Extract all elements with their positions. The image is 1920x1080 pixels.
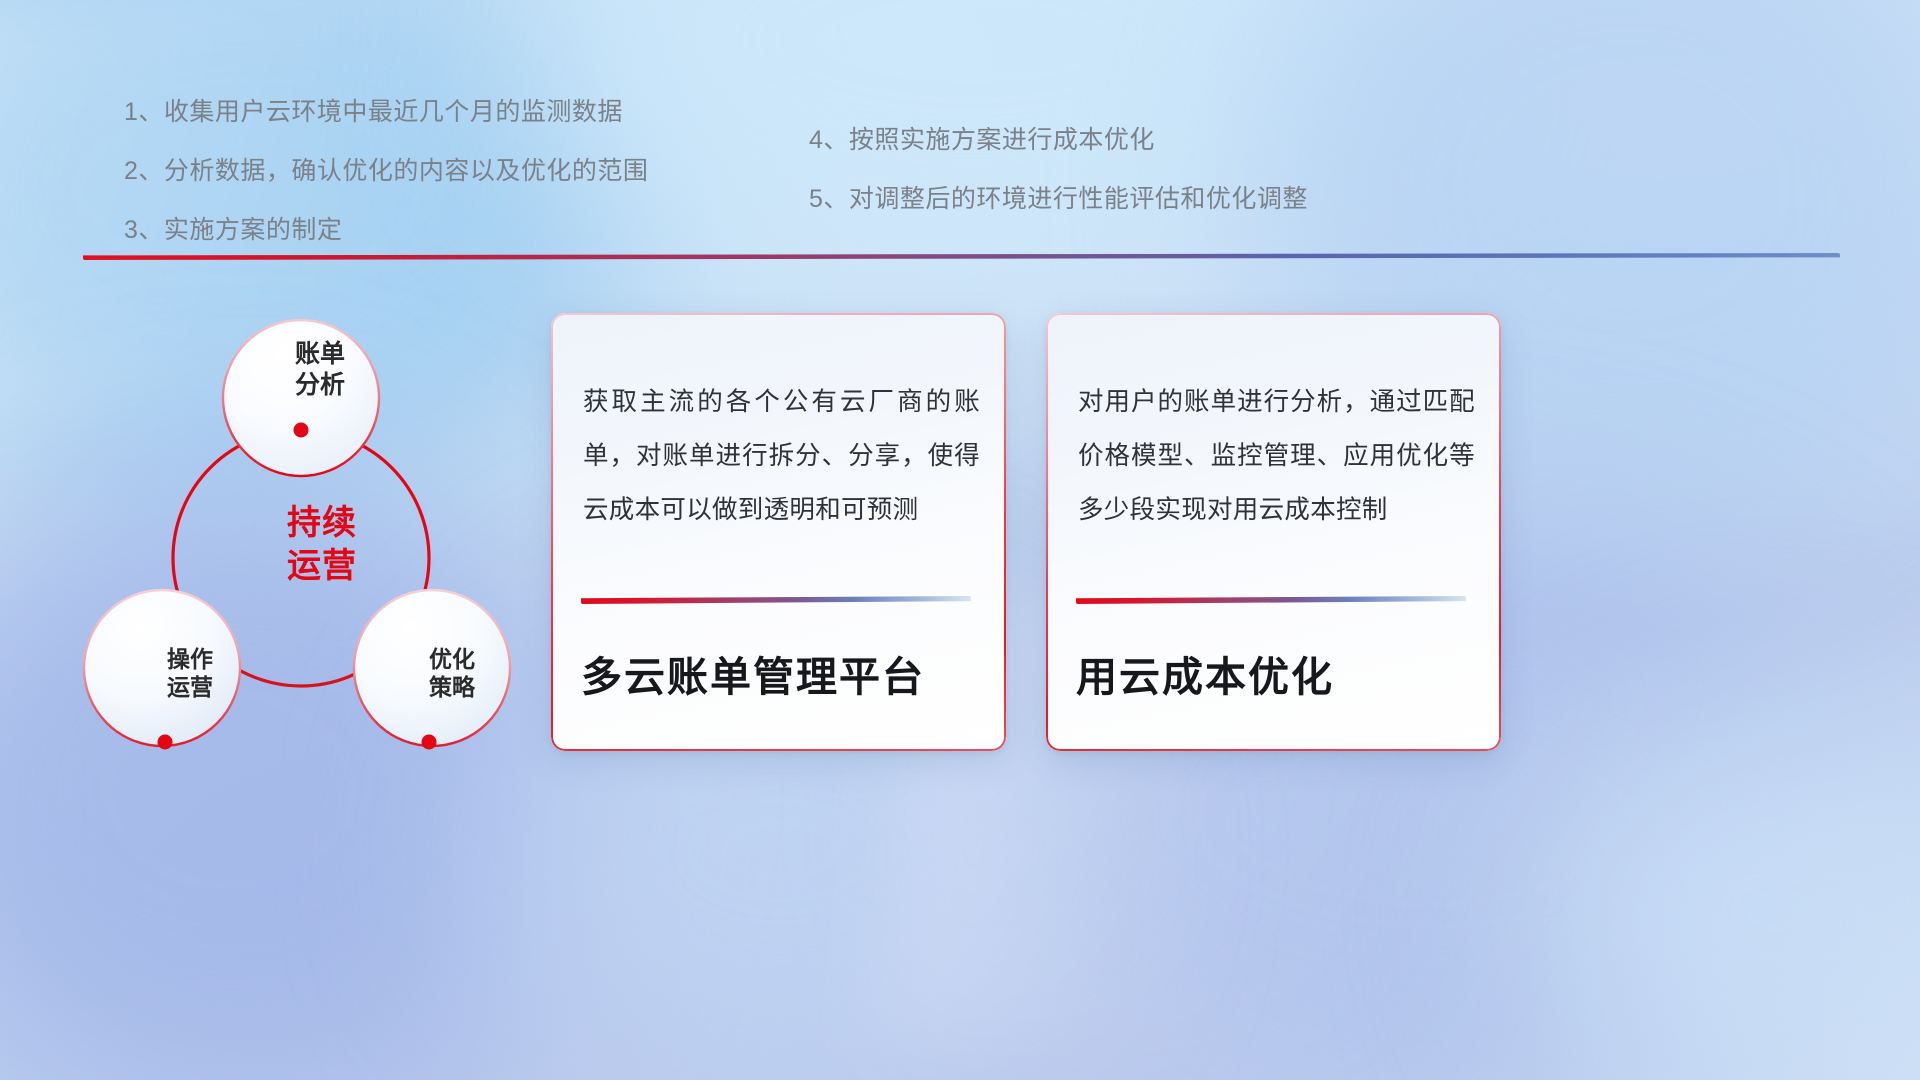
step-item-1: 1、收集用户云环境中最近几个月的监测数据 — [124, 100, 648, 125]
center-label-line-1: 持续 — [252, 502, 392, 545]
step-item-2: 2、分析数据，确认优化的内容以及优化的范围 — [124, 159, 648, 184]
circle-label-line-1: 操作 — [130, 645, 250, 673]
center-label-line-2: 运营 — [252, 545, 392, 588]
card-cloud-cost-optimization[interactable]: 对用户的账单进行分析，通过匹配价格模型、监控管理、应用优化等多少段实现对用云成本… — [1046, 313, 1501, 751]
node-dot-top — [294, 423, 309, 438]
circle-label-optimization-strategy: 优化 策略 — [392, 645, 512, 701]
node-dot-left — [158, 735, 173, 750]
circle-label-line-2: 运营 — [130, 673, 250, 701]
steps-list-right: 4、按照实施方案进行成本优化 5、对调整后的环境进行性能评估和优化调整 — [809, 128, 1308, 246]
card-divider — [581, 596, 971, 604]
circle-label-line-2: 分析 — [260, 370, 380, 401]
circle-label-line-1: 优化 — [392, 645, 512, 673]
circle-label-line-1: 账单 — [260, 339, 380, 370]
continuous-operations-diagram: 账单 分析 操作 运营 优化 策略 持续 运营 — [82, 290, 522, 780]
card-title: 多云账单管理平台 — [581, 643, 982, 703]
step-item-4: 4、按照实施方案进行成本优化 — [809, 128, 1308, 153]
steps-list-left: 1、收集用户云环境中最近几个月的监测数据 2、分析数据，确认优化的内容以及优化的… — [124, 100, 648, 277]
node-dot-right — [422, 735, 437, 750]
card-body-text: 对用户的账单进行分析，通过匹配价格模型、监控管理、应用优化等多少段实现对用云成本… — [1078, 375, 1475, 537]
card-multicloud-billing-platform[interactable]: 获取主流的各个公有云厂商的账单，对账单进行拆分、分享，使得云成本可以做到透明和可… — [551, 313, 1006, 751]
step-item-5: 5、对调整后的环境进行性能评估和优化调整 — [809, 187, 1308, 212]
diagram-center-label: 持续 运营 — [252, 502, 392, 588]
card-title: 用云成本优化 — [1076, 643, 1477, 703]
circle-label-line-2: 策略 — [392, 673, 512, 701]
card-divider — [1076, 596, 1466, 604]
card-body-text: 获取主流的各个公有云厂商的账单，对账单进行拆分、分享，使得云成本可以做到透明和可… — [583, 375, 980, 537]
circle-label-bill-analysis: 账单 分析 — [260, 339, 380, 400]
step-item-3: 3、实施方案的制定 — [124, 218, 648, 243]
circle-label-operations: 操作 运营 — [130, 645, 250, 701]
